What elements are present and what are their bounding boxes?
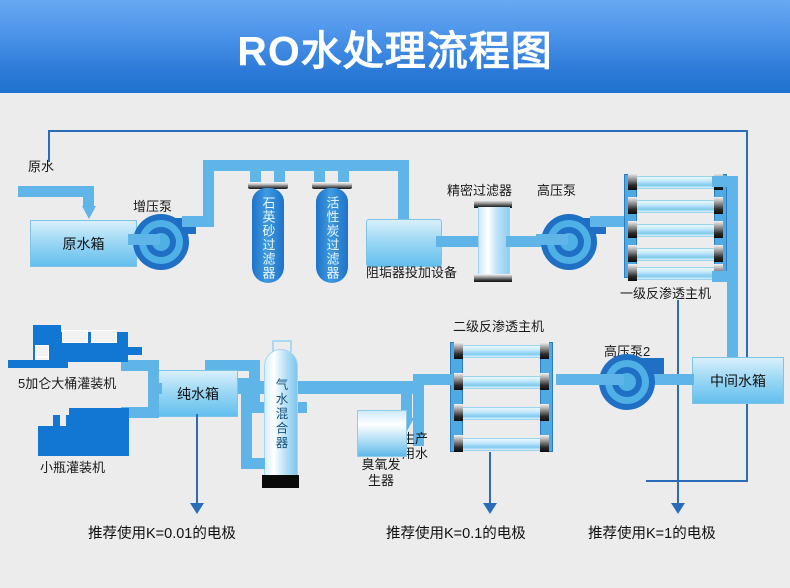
pure-water-tank: 纯水箱	[158, 370, 238, 417]
diagram-canvas: RO水处理流程图 原水 原水箱 增压泵 石英砂过滤器	[0, 0, 790, 588]
hpp-suction	[536, 234, 568, 245]
pure-water-tank-label: 纯水箱	[177, 384, 219, 404]
barrel-filling-machine-label: 5加仑大桶灌装机	[18, 377, 116, 392]
barrel-filler-outfeed	[126, 347, 142, 355]
inlet-pipe-down	[83, 186, 94, 208]
ro1-permeate-branch-top	[712, 176, 738, 187]
pure-water-signal-line	[196, 414, 198, 505]
ro2-membrane-4	[456, 438, 548, 451]
ro2-membrane-cap-2b	[540, 373, 549, 390]
sand-filter-label: 石英砂过滤器	[259, 196, 278, 280]
carbon-filter-label: 活性炭过滤器	[323, 196, 342, 280]
ro2-membrane-cap-4b	[540, 435, 549, 452]
ro1-membrane-cap-2a	[628, 197, 637, 214]
precision-filter-cap-bottom	[474, 274, 512, 282]
mixer-base	[262, 475, 299, 488]
recycle-line-top	[48, 130, 748, 132]
recycle-line-bottom	[646, 480, 748, 482]
ro1-membrane-cap-3b	[714, 221, 723, 238]
ro2-membrane-3	[456, 407, 548, 420]
ro2-membrane-2	[456, 376, 548, 389]
ro2-membrane-cap-1a	[454, 342, 463, 359]
ro1-membrane-2	[630, 200, 722, 213]
antiscalant-dosing-label: 阻垢器投加设备	[366, 266, 457, 281]
recycle-line-right	[746, 130, 748, 482]
ro1-membrane-5	[630, 267, 722, 280]
note3-arrow-icon	[671, 503, 685, 514]
ro2-signal-line	[489, 452, 491, 505]
ozone-generator-label: 臭氧发生器	[358, 457, 404, 488]
gas-water-mixer-label: 气水混合器	[272, 378, 291, 451]
inlet-arrow-icon	[82, 206, 96, 219]
antiscalant-dosing-device	[366, 219, 442, 267]
ro2-membrane-cap-2a	[454, 373, 463, 390]
note-k01: 推荐使用K=0.1的电极	[386, 522, 526, 543]
high-pressure-pump-label: 高压泵	[537, 184, 576, 199]
note1-arrow-icon	[190, 503, 204, 514]
intermediate-tank-label: 中间水箱	[710, 371, 766, 391]
barrel-filler-conveyor	[8, 360, 68, 368]
mixer-return-riser	[241, 378, 252, 463]
ro1-membrane-cap-5a	[628, 264, 637, 281]
ro2-membrane-cap-4a	[454, 435, 463, 452]
barrel-filler-window-2	[91, 330, 117, 343]
raw-water-tank-label: 原水箱	[63, 234, 105, 254]
ro1-signal-line	[677, 300, 679, 505]
recycle-line-left-drop	[48, 130, 50, 162]
ro2-membrane-cap-1b	[540, 342, 549, 359]
filter-header-right	[340, 160, 409, 171]
ro1-membrane-cap-1a	[628, 173, 637, 190]
sand-filter-vessel: 石英砂过滤器	[252, 188, 284, 283]
ozone-generator-text: 臭氧发生器	[361, 457, 400, 488]
purewater-tank-feed	[148, 383, 162, 394]
intermediate-tank: 中间水箱	[692, 357, 784, 404]
carbon-filter-vessel: 活性炭过滤器	[316, 188, 348, 283]
ro2-membrane-cap-3b	[540, 404, 549, 421]
booster-pump-suction	[128, 234, 160, 245]
precision-filter-label: 精密过滤器	[447, 184, 512, 199]
high-pressure-pump-2	[596, 352, 658, 410]
ro1-membrane-1	[630, 176, 722, 189]
ro2-membrane-1	[456, 345, 548, 358]
page-title: RO水处理流程图	[0, 0, 790, 93]
ro1-membrane-cap-2b	[714, 197, 723, 214]
ro-stage1-label: 一级反渗透主机	[620, 287, 711, 302]
ro1-membrane-cap-4a	[628, 245, 637, 262]
barrel-filler-window-3	[35, 345, 49, 357]
ro1-permeate-header	[727, 176, 738, 282]
ro-stage2-label: 二级反渗透主机	[453, 320, 544, 335]
ro1-membrane-cap-4b	[714, 245, 723, 262]
barrel-filler-window-1	[62, 330, 88, 343]
gas-water-mixer: 气水混合器	[264, 349, 298, 480]
ro-stage2-rack	[444, 338, 564, 456]
raw-water-inlet-label: 原水	[28, 160, 54, 175]
bottle-filler-nozzle-1	[53, 415, 60, 427]
ro1-to-intermediate-tank-pipe	[727, 272, 738, 358]
ozone-generator	[357, 410, 407, 457]
note2-arrow-icon	[483, 503, 497, 514]
note-k1: 推荐使用K=1的电极	[588, 522, 716, 543]
barrel-filling-machine-top	[33, 325, 61, 335]
bottle-filling-machine-label: 小瓶灌装机	[40, 461, 105, 476]
bottle-filler-nozzle-2	[66, 415, 73, 427]
bottle-filling-machine-lower	[38, 426, 78, 456]
ro1-membrane-cap-3a	[628, 221, 637, 238]
ro1-membrane-3	[630, 224, 722, 237]
ro1-membrane-4	[630, 248, 722, 261]
raw-water-tank: 原水箱	[30, 220, 137, 267]
bottle-filling-machine-body	[69, 408, 129, 456]
ro2-membrane-cap-3a	[454, 404, 463, 421]
note-k001: 推荐使用K=0.01的电极	[88, 522, 236, 543]
